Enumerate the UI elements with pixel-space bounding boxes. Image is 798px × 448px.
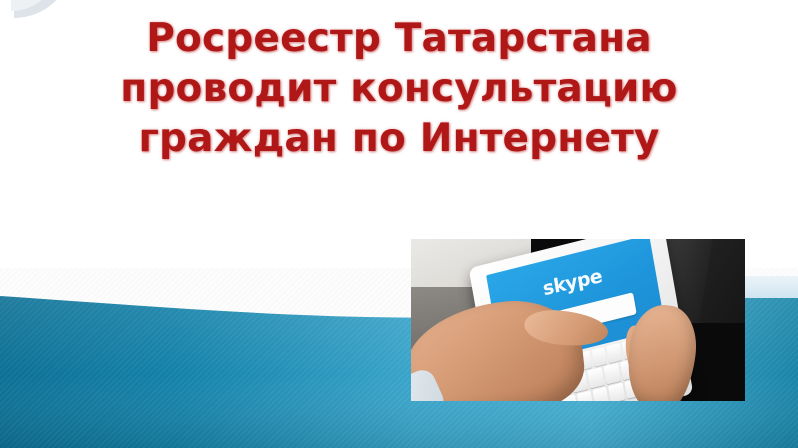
- keyboard-key: [587, 367, 604, 388]
- keyboard-key: [592, 386, 609, 401]
- photo-content: skype: [411, 239, 745, 401]
- presentation-slide: Росреестр Татарстана проводит консультац…: [0, 0, 798, 448]
- keyboard-key: [576, 390, 593, 401]
- photo-shirt-cuff: [411, 366, 448, 401]
- skype-logo: skype: [541, 265, 603, 300]
- title-line-1: Росреестр Татарстана: [0, 14, 798, 64]
- keyboard-key: [608, 382, 625, 401]
- keyboard-key: [591, 347, 607, 367]
- keyboard-key: [606, 343, 622, 363]
- skype-tablet-photo: skype: [411, 239, 745, 401]
- keyboard-key: [603, 363, 620, 384]
- title-line-2: проводит консультацию: [0, 64, 798, 114]
- slide-title: Росреестр Татарстана проводит консультац…: [0, 14, 798, 164]
- title-line-3: граждан по Интернету: [0, 114, 798, 164]
